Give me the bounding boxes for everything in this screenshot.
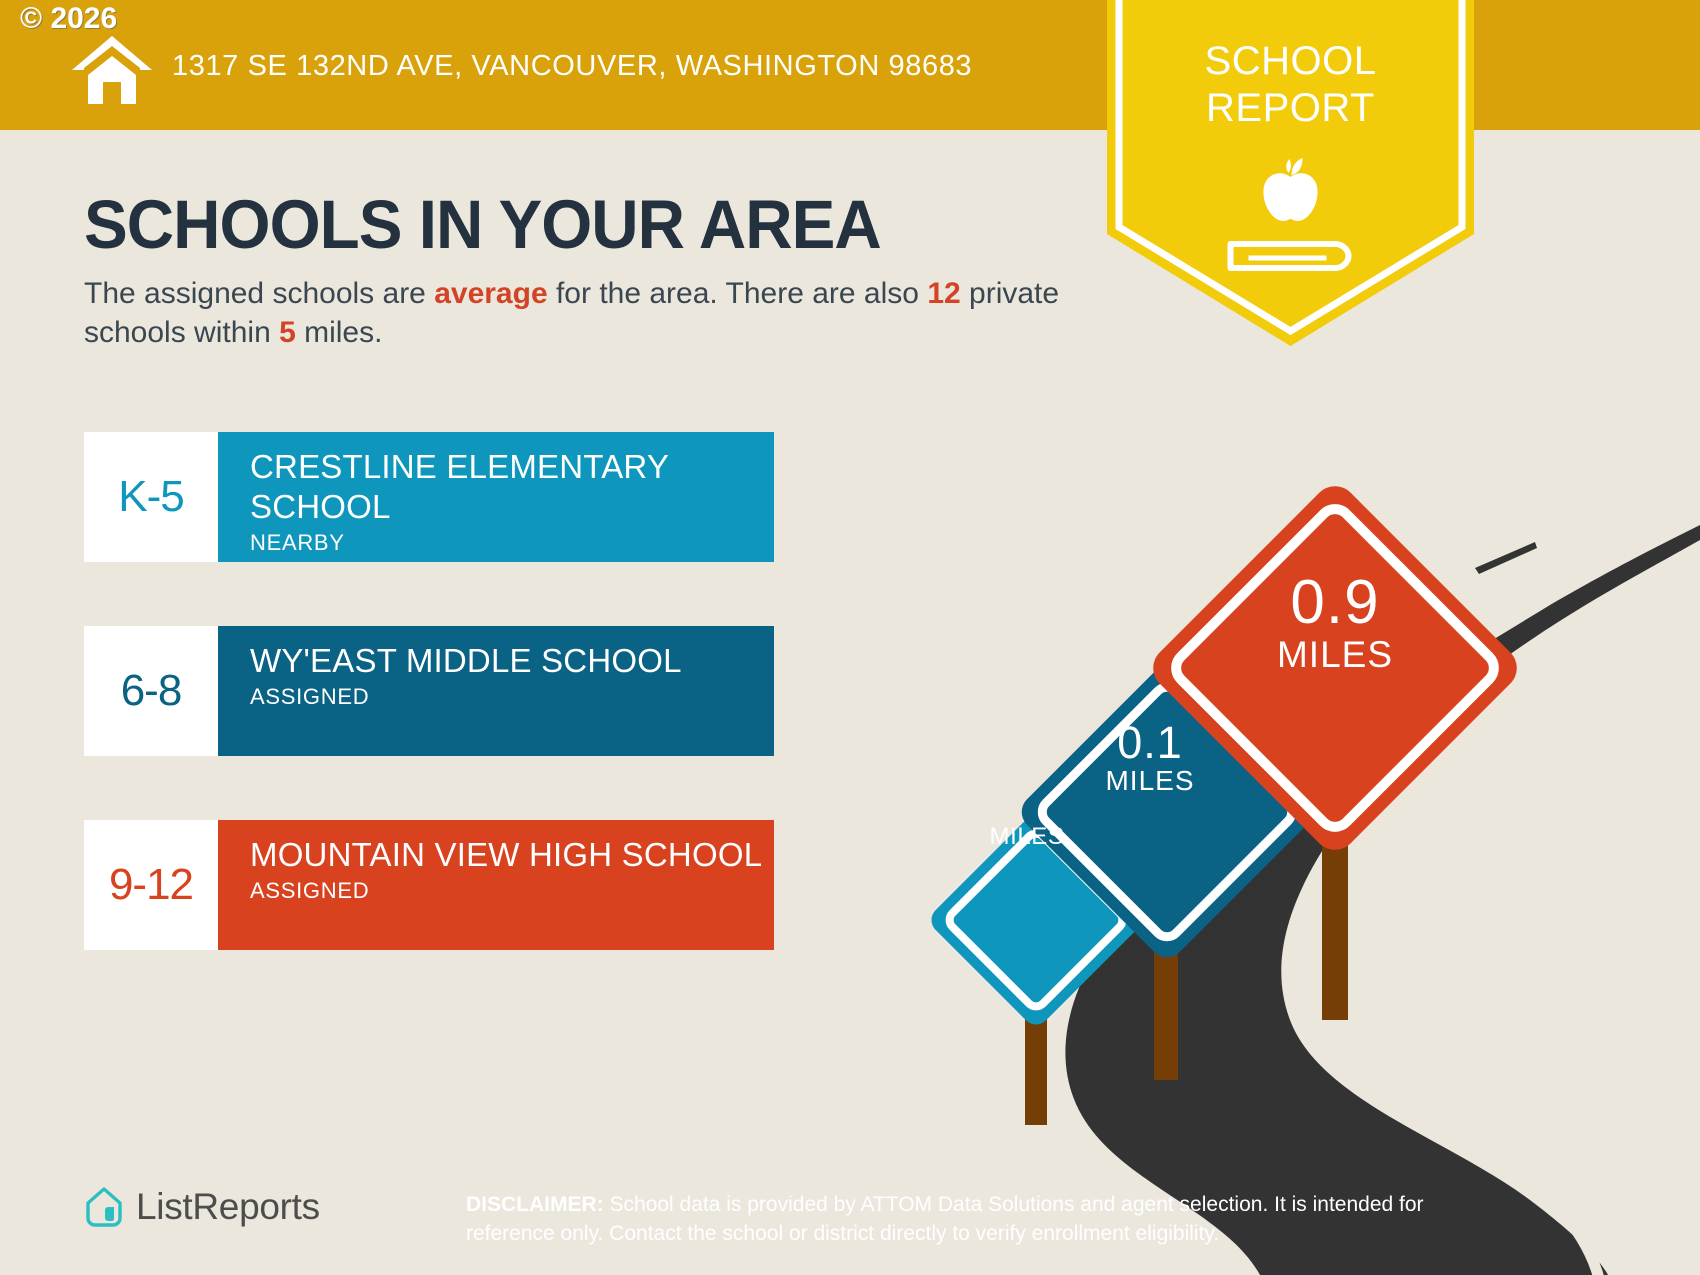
listreports-logo[interactable]: ListReports xyxy=(84,1186,320,1228)
grade-chip-high: 9-12 xyxy=(84,820,218,950)
badge-line-1: SCHOOL xyxy=(1205,39,1377,83)
subtitle-highlight-count: 12 xyxy=(927,277,960,310)
disclaimer-body: School data is provided by ATTOM Data So… xyxy=(466,1193,1424,1245)
grade-range-label: 9-12 xyxy=(109,860,193,910)
badge-title: SCHOOL REPORT xyxy=(1107,38,1474,132)
school-name-label: WY'EAST MIDDLE SCHOOL xyxy=(250,641,774,681)
subtitle-part-2: for the area. There are also xyxy=(548,277,928,310)
school-card-body-elementary: CRESTLINE ELEMENTARY SCHOOL NEARBY xyxy=(218,432,774,562)
school-status-badge: NEARBY xyxy=(250,530,774,556)
property-address: 1317 SE 132ND AVE, VANCOUVER, WASHINGTON… xyxy=(172,50,972,83)
listreports-house-icon xyxy=(84,1186,124,1228)
badge-line-2: REPORT xyxy=(1206,86,1375,130)
subtitle-highlight-rating: average xyxy=(434,277,547,310)
school-card-body-middle: WY'EAST MIDDLE SCHOOL ASSIGNED xyxy=(218,626,774,756)
grade-range-label: 6-8 xyxy=(121,666,182,716)
school-card-middle[interactable]: 6-8 WY'EAST MIDDLE SCHOOL ASSIGNED xyxy=(84,626,774,756)
school-status-badge: ASSIGNED xyxy=(250,878,774,904)
disclaimer-label: DISCLAIMER: xyxy=(466,1193,604,1216)
road-signs-illustration: 0.9 MILES 0.1 MILES MILES xyxy=(930,420,1700,1275)
page-title: SCHOOLS IN YOUR AREA xyxy=(84,185,881,264)
school-name-label: MOUNTAIN VIEW HIGH SCHOOL xyxy=(250,835,774,875)
subtitle-part-4: miles. xyxy=(296,316,383,349)
school-report-badge: SCHOOL REPORT xyxy=(1107,0,1474,346)
subtitle-part-1: The assigned schools are xyxy=(84,277,434,310)
school-report-infographic: © 2026 1317 SE 132ND AVE, VANCOUVER, WAS… xyxy=(0,0,1700,1275)
home-icon xyxy=(70,34,154,106)
school-card-body-high: MOUNTAIN VIEW HIGH SCHOOL ASSIGNED xyxy=(218,820,774,950)
school-list: K-5 CRESTLINE ELEMENTARY SCHOOL NEARBY 6… xyxy=(84,432,774,1014)
subtitle-highlight-radius: 5 xyxy=(279,316,296,349)
school-card-elementary[interactable]: K-5 CRESTLINE ELEMENTARY SCHOOL NEARBY xyxy=(84,432,774,562)
listreports-wordmark: ListReports xyxy=(136,1186,320,1228)
school-status-badge: ASSIGNED xyxy=(250,684,774,710)
road-far-sliver xyxy=(1475,542,1537,574)
grade-chip-elementary: K-5 xyxy=(84,432,218,562)
school-name-label: CRESTLINE ELEMENTARY SCHOOL xyxy=(250,447,774,527)
grade-range-label: K-5 xyxy=(118,472,183,522)
copyright-text: © 2026 xyxy=(20,2,117,36)
school-card-high[interactable]: 9-12 MOUNTAIN VIEW HIGH SCHOOL ASSIGNED xyxy=(84,820,774,950)
subtitle: The assigned schools are average for the… xyxy=(84,274,1094,352)
disclaimer-text: DISCLAIMER: School data is provided by A… xyxy=(466,1190,1476,1248)
grade-chip-middle: 6-8 xyxy=(84,626,218,756)
